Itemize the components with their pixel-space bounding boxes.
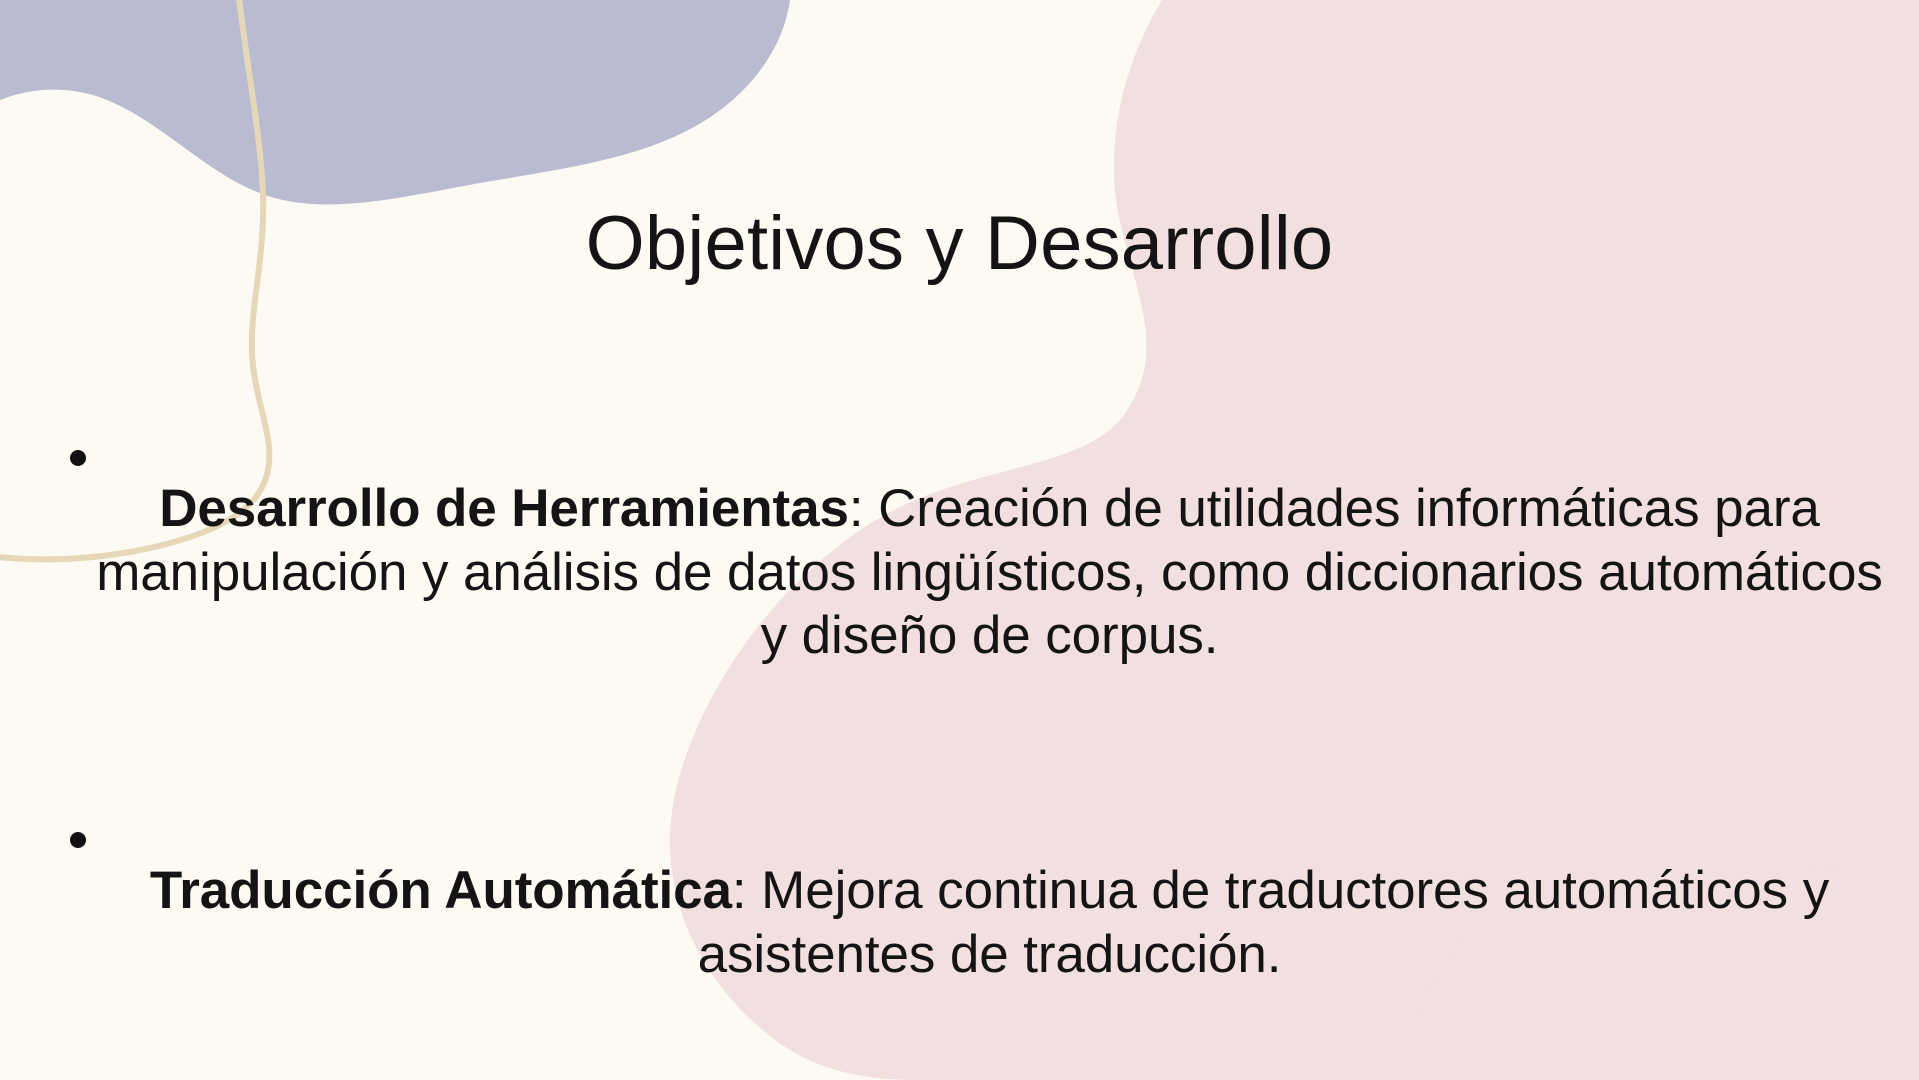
- bullet-separator-1: :: [849, 479, 878, 538]
- bullet-text-2: Traducción Automática: Mejora continua d…: [86, 859, 1919, 986]
- bullet-marker-icon: [70, 832, 86, 848]
- bullet-separator-2: :: [732, 861, 761, 920]
- page-title: Objetivos y Desarrollo: [0, 203, 1919, 285]
- bullet-text-1: Desarrollo de Herramientas: Creación de …: [86, 477, 1919, 668]
- bullet-body-2: Mejora continua de traductores automátic…: [698, 861, 1830, 984]
- bullet-item-1: Desarrollo de Herramientas: Creación de …: [0, 424, 1919, 721]
- bullet-lead-1: Desarrollo de Herramientas: [159, 479, 849, 538]
- slide-content: Objetivos y Desarrollo Desarrollo de Her…: [0, 0, 1919, 1080]
- bullet-item-2: Traducción Automática: Mejora continua d…: [0, 806, 1919, 1039]
- bullet-lead-2: Traducción Automática: [150, 861, 732, 920]
- bullet-marker-icon: [70, 450, 86, 466]
- presentation-slide: Objetivos y Desarrollo Desarrollo de Her…: [0, 0, 1919, 1080]
